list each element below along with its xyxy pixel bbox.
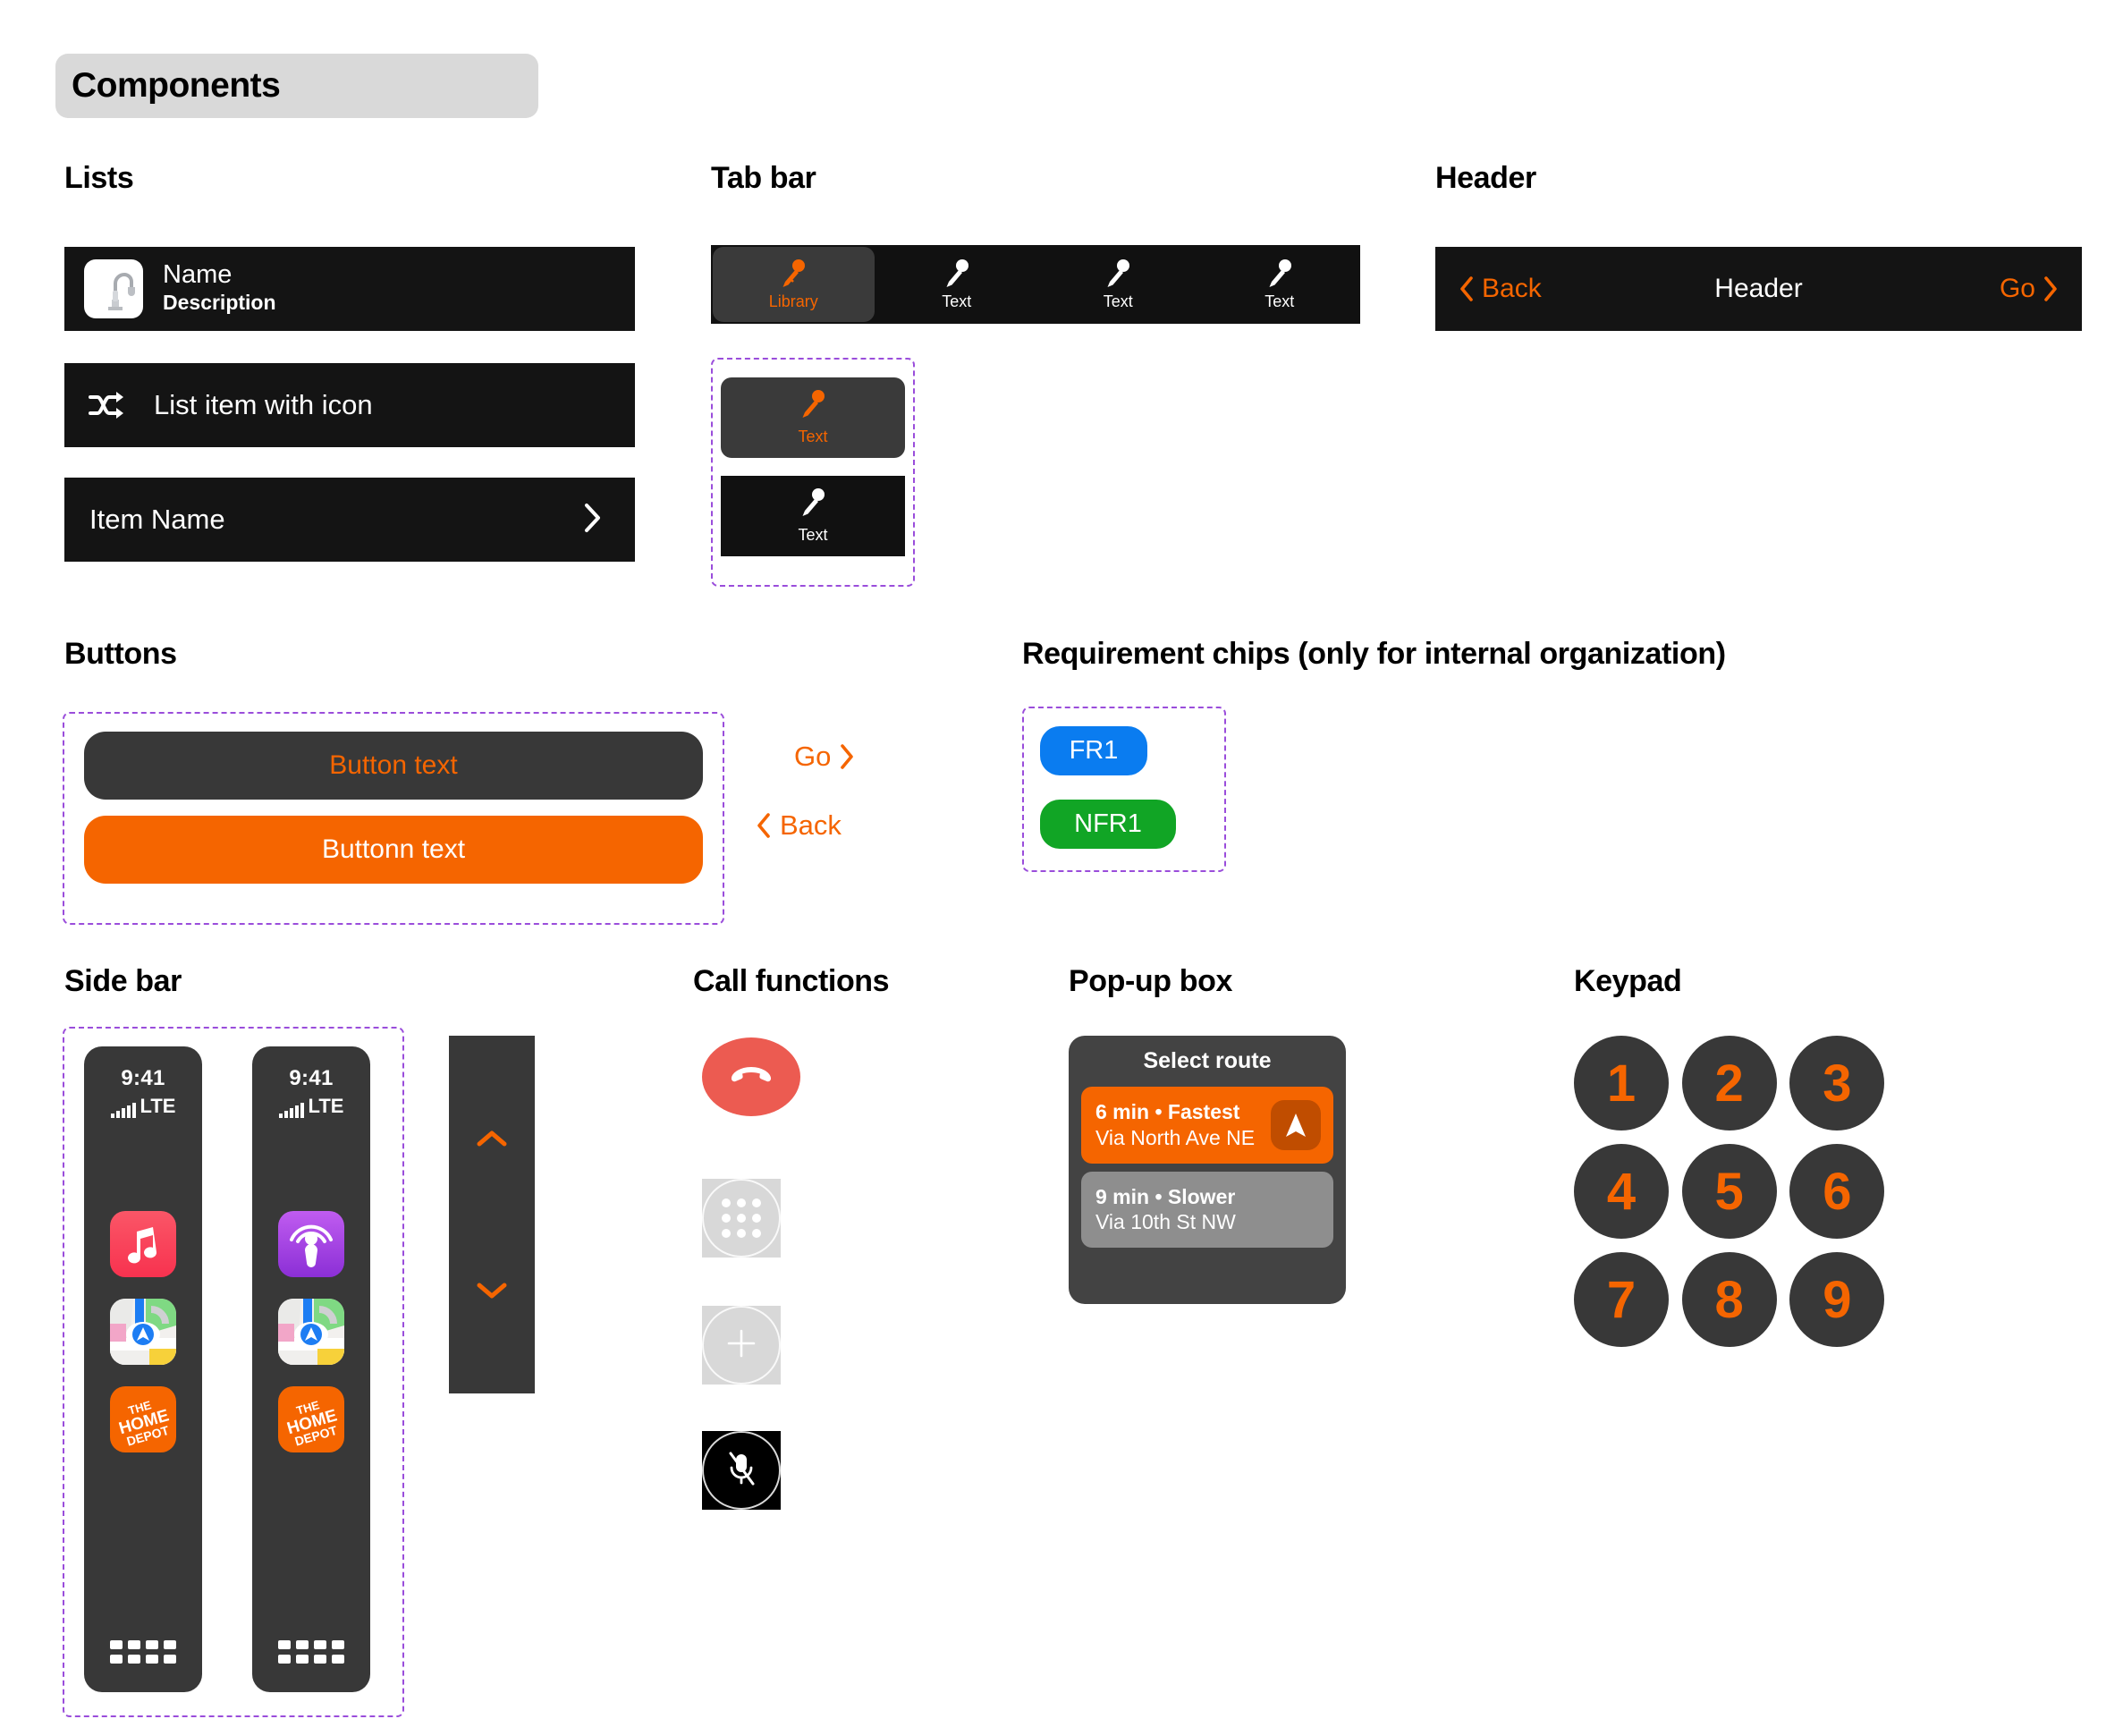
status-time: 9:41 xyxy=(121,1066,165,1091)
header-bar: Back Header Go xyxy=(1435,247,2082,331)
keypad-key-8[interactable]: 8 xyxy=(1682,1252,1777,1347)
go-link-button[interactable]: Go xyxy=(794,741,855,773)
back-link-button[interactable]: Back xyxy=(756,809,842,842)
components-design-system-page: Components Lists Name Description xyxy=(0,0,2123,1736)
back-link-label: Back xyxy=(780,809,842,842)
maps-app-icon[interactable] xyxy=(110,1299,176,1365)
mute-button[interactable] xyxy=(702,1431,781,1510)
end-call-button[interactable] xyxy=(702,1037,800,1116)
status-network: LTE xyxy=(279,1095,344,1118)
tab-text-2[interactable]: Text xyxy=(1037,245,1199,324)
status-network-label: LTE xyxy=(309,1095,344,1118)
tab-label: Text xyxy=(1264,292,1294,311)
sidebar-phone-1: 9:41 LTE xyxy=(84,1046,202,1692)
section-heading-popup: Pop-up box xyxy=(1069,964,1232,999)
route-via: Via 10th St NW xyxy=(1095,1209,1319,1235)
microphone-icon xyxy=(780,258,807,289)
route-option-fastest[interactable]: 6 min • Fastest Via North Ave NE xyxy=(1081,1087,1333,1164)
status-network: LTE xyxy=(111,1095,176,1118)
sidebar-scroll-control[interactable] xyxy=(449,1036,535,1393)
phone-down-icon xyxy=(730,1063,773,1091)
keypad-key-5[interactable]: 5 xyxy=(1682,1144,1777,1239)
navigation-arrow-icon[interactable] xyxy=(1271,1100,1321,1150)
keypad-key-2[interactable]: 2 xyxy=(1682,1036,1777,1131)
tab-label: Library xyxy=(769,292,818,311)
go-link-label: Go xyxy=(794,741,831,773)
list-item-label: List item with icon xyxy=(154,389,373,421)
tab-text-1[interactable]: Text xyxy=(876,245,1038,324)
list-item-label: Item Name xyxy=(89,504,225,536)
tab-bar: Library Text Text Text xyxy=(711,245,1360,324)
section-heading-lists: Lists xyxy=(64,161,133,196)
list-item-description: Description xyxy=(163,290,276,317)
popup-title: Select route xyxy=(1081,1048,1333,1074)
chevron-up-icon[interactable] xyxy=(477,1130,507,1152)
tab-library[interactable]: Library xyxy=(713,247,875,322)
home-depot-app-icon[interactable]: THEHOMEDEPOT xyxy=(110,1386,176,1452)
route-headline: 9 min • Slower xyxy=(1095,1184,1319,1210)
section-heading-header: Header xyxy=(1435,161,1536,196)
shuffle-icon xyxy=(88,389,129,421)
section-heading-tab-bar: Tab bar xyxy=(711,161,816,196)
list-item-title: Name xyxy=(163,261,276,290)
chip-nfr1[interactable]: NFR1 xyxy=(1040,800,1176,849)
header-title: Header xyxy=(1435,274,2082,304)
section-heading-keypad: Keypad xyxy=(1574,964,1681,999)
chevron-down-icon[interactable] xyxy=(477,1282,507,1304)
chip-nfr1-label: NFR1 xyxy=(1074,809,1142,839)
podcasts-app-icon[interactable] xyxy=(278,1211,344,1277)
list-item-with-thumbnail[interactable]: Name Description xyxy=(64,247,635,331)
keypad-key-3[interactable]: 3 xyxy=(1789,1036,1884,1131)
keypad-key-9[interactable]: 9 xyxy=(1789,1252,1884,1347)
chip-fr1[interactable]: FR1 xyxy=(1040,726,1147,775)
section-heading-call-functions: Call functions xyxy=(693,964,889,999)
page-title-badge: Components xyxy=(55,54,538,118)
section-heading-chips: Requirement chips (only for internal org… xyxy=(1022,637,1726,672)
chevron-left-icon xyxy=(756,812,772,839)
sidebar-phone-2: 9:41 LTE xyxy=(252,1046,370,1692)
tab-variant-label: Text xyxy=(798,526,827,545)
tab-text-3[interactable]: Text xyxy=(1199,245,1361,324)
primary-button[interactable]: Buttonn text xyxy=(84,816,703,884)
faucet-image xyxy=(84,259,143,318)
popup-box: Select route 6 min • Fastest Via North A… xyxy=(1069,1036,1346,1304)
tab-variant-selected[interactable]: Text xyxy=(721,377,905,458)
chevron-right-icon xyxy=(839,743,855,770)
microphone-icon xyxy=(1266,258,1293,289)
keypad: 1 2 3 4 5 6 7 8 9 xyxy=(1574,1036,1887,1340)
list-item-with-icon[interactable]: List item with icon xyxy=(64,363,635,447)
microphone-icon xyxy=(1104,258,1131,289)
keypad-button[interactable] xyxy=(702,1179,781,1258)
microphone-icon xyxy=(799,389,826,424)
keypad-key-7[interactable]: 7 xyxy=(1574,1252,1669,1347)
primary-button-label: Buttonn text xyxy=(322,834,465,865)
status-time: 9:41 xyxy=(289,1066,333,1091)
app-grid-icon[interactable] xyxy=(110,1640,176,1664)
chevron-right-icon xyxy=(583,502,603,538)
app-grid-icon[interactable] xyxy=(278,1640,344,1664)
section-heading-side-bar: Side bar xyxy=(64,964,182,999)
button-ring xyxy=(702,1306,781,1385)
signal-bars-icon xyxy=(111,1102,136,1118)
microphone-icon xyxy=(943,258,970,289)
status-network-label: LTE xyxy=(140,1095,176,1118)
page-title: Components xyxy=(72,66,280,106)
maps-app-icon[interactable] xyxy=(278,1299,344,1365)
tab-label: Text xyxy=(942,292,971,311)
home-depot-app-icon[interactable]: THEHOMEDEPOT xyxy=(278,1386,344,1452)
route-option-slower[interactable]: 9 min • Slower Via 10th St NW xyxy=(1081,1172,1333,1249)
secondary-button[interactable]: Button text xyxy=(84,732,703,800)
add-call-button[interactable] xyxy=(702,1306,781,1385)
secondary-button-label: Button text xyxy=(329,750,457,781)
button-ring xyxy=(702,1431,781,1510)
tab-variant-unselected[interactable]: Text xyxy=(721,476,905,556)
microphone-icon xyxy=(799,487,826,522)
keypad-key-4[interactable]: 4 xyxy=(1574,1144,1669,1239)
list-item-with-chevron[interactable]: Item Name xyxy=(64,478,635,562)
section-heading-buttons: Buttons xyxy=(64,637,177,672)
tab-variant-label: Text xyxy=(798,428,827,446)
tab-label: Text xyxy=(1104,292,1133,311)
keypad-key-1[interactable]: 1 xyxy=(1574,1036,1669,1131)
chip-fr1-label: FR1 xyxy=(1070,736,1119,766)
keypad-dots-icon xyxy=(722,1198,761,1238)
music-app-icon[interactable] xyxy=(110,1211,176,1277)
signal-bars-icon xyxy=(279,1102,304,1118)
keypad-key-6[interactable]: 6 xyxy=(1789,1144,1884,1239)
